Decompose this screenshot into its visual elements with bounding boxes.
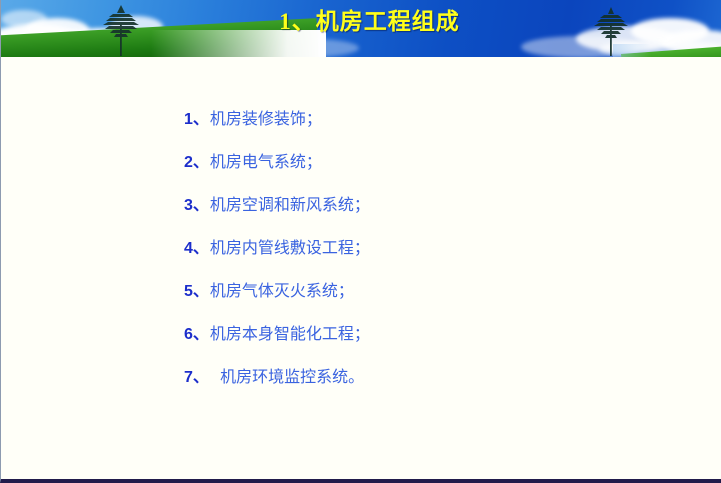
list-item-label: 机房本身智能化工程； — [210, 320, 370, 344]
list-item-number: 1、 — [184, 105, 209, 129]
page-title: 1、机房工程组成 — [1, 2, 721, 36]
list-item-number: 6、 — [184, 320, 209, 344]
list-item: 5、 机房气体灭火系统； — [184, 277, 370, 320]
list-item-label: 机房环境监控系统。 — [210, 363, 364, 387]
slide-header-banner: 1、机房工程组成 — [1, 0, 721, 57]
list-item-number: 3、 — [184, 191, 209, 215]
list-item-number: 7、 — [184, 363, 209, 387]
list-item-label: 机房气体灭火系统； — [210, 277, 354, 301]
list-item: 2、 机房电气系统； — [184, 148, 370, 191]
list-item-label: 机房装修装饰； — [210, 105, 322, 129]
list-item: 1、 机房装修装饰； — [184, 105, 370, 148]
list-item: 4、 机房内管线敷设工程； — [184, 234, 370, 277]
list-item-number: 4、 — [184, 234, 209, 258]
list-item-number: 5、 — [184, 277, 209, 301]
slide-body: 1、 机房装修装饰； 2、 机房电气系统； 3、 机房空调和新风系统； 4、 机… — [1, 57, 721, 479]
slide-canvas: 1、机房工程组成 1、 机房装修装饰； 2、 机房电气系统； 3、 机房空调和新… — [0, 0, 721, 483]
list-item-number: 2、 — [184, 148, 209, 172]
list-item: 7、 机房环境监控系统。 — [184, 363, 370, 406]
list-item-label: 机房内管线敷设工程； — [210, 234, 370, 258]
list-item: 3、 机房空调和新风系统； — [184, 191, 370, 234]
composition-item-list: 1、 机房装修装饰； 2、 机房电气系统； 3、 机房空调和新风系统； 4、 机… — [184, 105, 370, 406]
list-item-label: 机房空调和新风系统； — [210, 191, 370, 215]
list-item: 6、 机房本身智能化工程； — [184, 320, 370, 363]
list-item-label: 机房电气系统； — [210, 148, 322, 172]
